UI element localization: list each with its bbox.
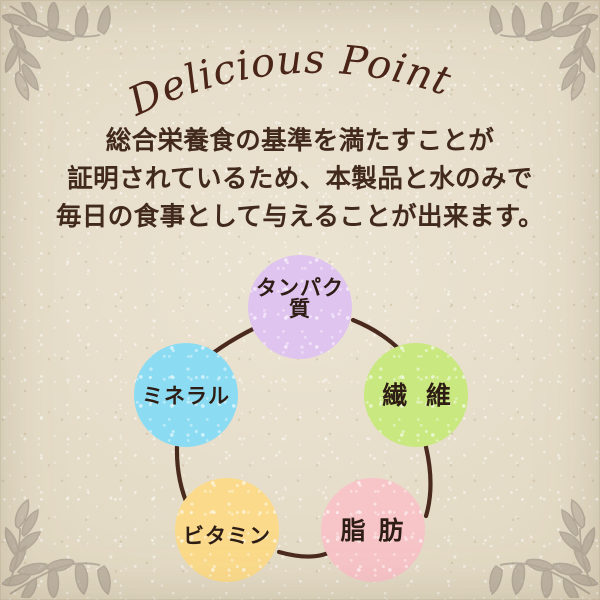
wheel-node-fat[interactable]: 脂 肪 [321, 478, 425, 582]
headline-line-2: 証明されているため、本製品と水のみで [0, 160, 600, 198]
wheel-node-protein-label: タンパク質 [248, 278, 352, 320]
poster-canvas: Delicious Points 総合栄養食の基準を満たすことが 証明されている… [0, 0, 600, 600]
nutrient-wheel-diagram: タンパク質 繊 維 脂 肪 ビタミン ミネラル [110, 240, 490, 590]
headline-line-1: 総合栄養食の基準を満たすことが [0, 122, 600, 160]
headline-line-3: 毎日の食事として与えることが出来ます。 [0, 198, 600, 236]
wheel-node-protein[interactable]: タンパク質 [248, 255, 352, 359]
wheel-node-fat-label: 脂 肪 [341, 518, 406, 543]
wheel-node-mineral[interactable]: ミネラル [134, 343, 238, 447]
wheel-node-mineral-label: ミネラル [142, 386, 230, 407]
wheel-node-vitamin[interactable]: ビタミン [175, 478, 279, 582]
floral-ornament-icon-bottom-right [480, 490, 598, 598]
floral-ornament-icon-bottom-left [2, 490, 120, 598]
wheel-node-vitamin-label: ビタミン [183, 526, 271, 547]
page-title: Delicious Points [0, 24, 600, 110]
headline-paragraph: 総合栄養食の基準を満たすことが 証明されているため、本製品と水のみで 毎日の食事… [0, 122, 600, 236]
wheel-node-fiber[interactable]: 繊 維 [364, 343, 468, 447]
connector-fiber-fat [426, 447, 431, 516]
wheel-node-fiber-label: 繊 維 [382, 383, 456, 408]
